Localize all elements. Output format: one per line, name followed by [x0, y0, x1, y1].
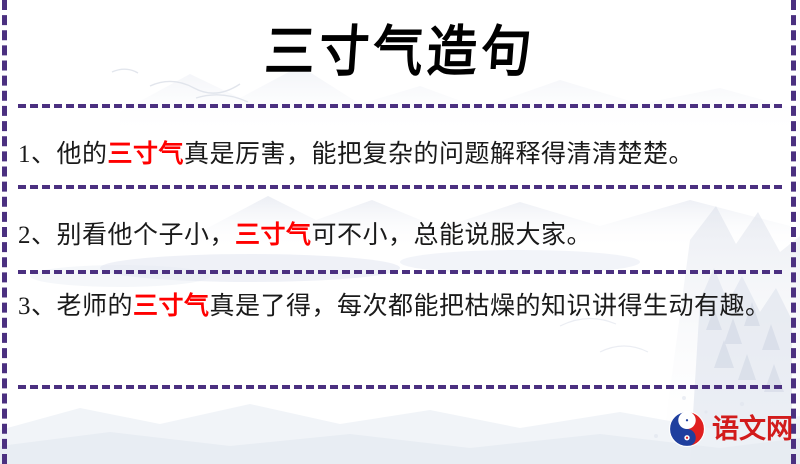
page-title: 三寸气造句	[263, 25, 537, 80]
sentence-number: 2、	[18, 222, 57, 249]
sentence-item: 1、他的三寸气真是厉害，能把复杂的问题解释得清清楚楚。	[18, 136, 780, 174]
sentence-text-after: 可不小，总能说服大家。	[312, 222, 593, 249]
left-dashed-border	[2, 0, 7, 464]
sentence-text-before: 老师的	[57, 293, 134, 320]
sentence-number: 3、	[18, 293, 57, 320]
sentence-item: 3、老师的三寸气真是了得，每次都能把枯燥的知识讲得生动有趣。	[18, 288, 780, 326]
worksheet-page: 三寸气造句 1、他的三寸气真是厉害，能把复杂的问题解释得清清楚楚。 2、别看他个…	[0, 0, 800, 464]
sentence-keyword: 三寸气	[133, 293, 210, 320]
right-dashed-border	[791, 0, 796, 464]
separator-line-3	[18, 270, 782, 274]
yin-yang-fish-emblem-icon	[668, 410, 706, 448]
separator-line-2	[18, 185, 782, 189]
sentence-text-after: 真是厉害，能把复杂的问题解释得清清楚楚。	[184, 141, 694, 168]
separator-line-4	[18, 385, 782, 389]
sentence-number: 1、	[18, 141, 57, 168]
separator-line-1	[18, 104, 782, 108]
page-title-area: 三寸气造句	[0, 0, 800, 104]
sentence-text-before: 别看他个子小，	[57, 222, 236, 249]
sentence-text-after: 真是了得，每次都能把枯燥的知识讲得生动有趣。	[210, 293, 771, 320]
sentence-keyword: 三寸气	[235, 222, 312, 249]
site-logo-text: 语文网	[712, 416, 793, 443]
site-logo[interactable]: 语文网	[668, 408, 793, 450]
sentence-item: 2、别看他个子小，三寸气可不小，总能说服大家。	[18, 217, 780, 255]
sentence-keyword: 三寸气	[108, 141, 185, 168]
sentence-text-before: 他的	[57, 141, 108, 168]
